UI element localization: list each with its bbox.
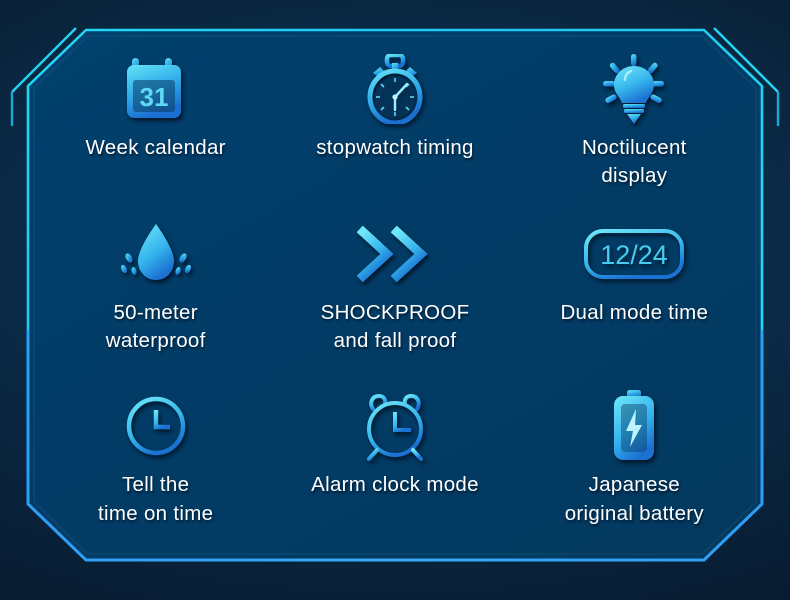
feature-label: 50-meter waterproof xyxy=(106,299,206,356)
water-drop-icon xyxy=(118,215,194,293)
lightbulb-icon xyxy=(601,50,667,128)
feature-label: SHOCKPROOF and fall proof xyxy=(321,299,470,356)
feature-tell-time[interactable]: Tell the time on time xyxy=(36,381,275,550)
twelve-twentyfour-badge-icon: 12/24 xyxy=(583,215,685,293)
feature-label: stopwatch timing xyxy=(316,134,473,162)
clock-icon xyxy=(124,387,188,465)
double-chevron-icon xyxy=(357,215,433,293)
feature-label: Noctilucent display xyxy=(582,134,687,191)
calendar-day-number: 31 xyxy=(139,82,168,112)
calendar-icon: 31 xyxy=(125,50,187,128)
dual-mode-value: 12/24 xyxy=(601,240,669,270)
feature-label: Japanese original battery xyxy=(565,471,704,528)
feature-shockproof[interactable]: SHOCKPROOF and fall proof xyxy=(275,213,514,382)
feature-week-calendar[interactable]: 31 Week calendar xyxy=(36,44,275,213)
feature-poster: 31 Week calendar xyxy=(0,0,790,600)
battery-icon xyxy=(609,387,659,465)
feature-panel: 31 Week calendar xyxy=(28,30,762,560)
feature-label: Alarm clock mode xyxy=(311,471,479,499)
feature-alarm-clock-mode[interactable]: Alarm clock mode xyxy=(275,381,514,550)
stopwatch-icon xyxy=(361,50,429,128)
feature-label: Dual mode time xyxy=(560,299,708,327)
feature-stopwatch-timing[interactable]: stopwatch timing xyxy=(275,44,514,213)
feature-japanese-battery[interactable]: Japanese original battery xyxy=(515,381,754,550)
feature-grid: 31 Week calendar xyxy=(28,30,762,560)
alarm-clock-icon xyxy=(359,387,431,465)
feature-label: Tell the time on time xyxy=(98,471,213,528)
feature-noctilucent-display[interactable]: Noctilucent display xyxy=(515,44,754,213)
feature-waterproof[interactable]: 50-meter waterproof xyxy=(36,213,275,382)
feature-label: Week calendar xyxy=(86,134,226,162)
feature-dual-mode-time[interactable]: 12/24 Dual mode time xyxy=(515,213,754,382)
